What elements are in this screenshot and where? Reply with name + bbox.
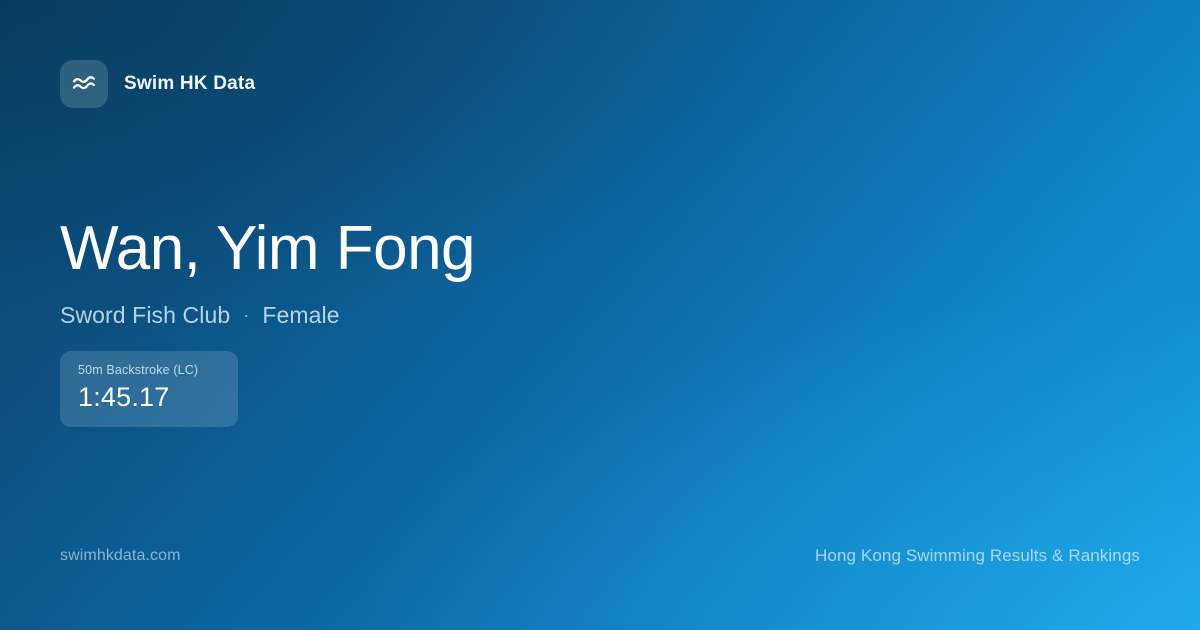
club-name: Sword Fish Club (60, 302, 230, 329)
gender-label: Female (262, 302, 339, 329)
best-time-value: 1:45.17 (78, 382, 220, 413)
wave-icon (60, 60, 108, 108)
best-time-card[interactable]: 50m Backstroke (LC) 1:45.17 (60, 351, 238, 427)
event-label: 50m Backstroke (LC) (78, 363, 220, 377)
brand-name: Swim HK Data (124, 73, 255, 95)
page-title: Wan, Yim Fong (60, 216, 1060, 282)
site-tagline: Hong Kong Swimming Results & Rankings (815, 546, 1140, 566)
meta-separator: · (243, 306, 249, 324)
hero-block: Wan, Yim Fong Sword Fish Club · Female (60, 216, 1060, 329)
share-card: Swim HK Data Wan, Yim Fong Sword Fish Cl… (0, 0, 1200, 630)
site-url[interactable]: swimhkdata.com (60, 547, 181, 565)
athlete-meta: Sword Fish Club · Female (60, 302, 1060, 329)
footer: swimhkdata.com Hong Kong Swimming Result… (60, 546, 1140, 566)
brand-lockup[interactable]: Swim HK Data (60, 60, 255, 108)
